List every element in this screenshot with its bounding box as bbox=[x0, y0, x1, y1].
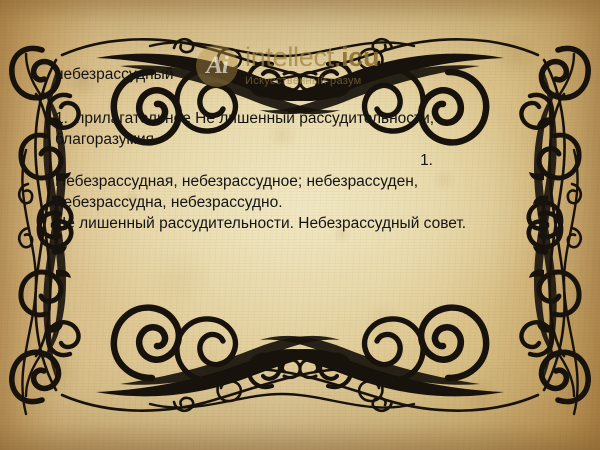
usage-example: Небезрассудный совет. bbox=[298, 215, 466, 232]
sense-number: 1. bbox=[55, 110, 68, 127]
dictionary-entry-page: Ai intellect.icu Искусственный разум неб… bbox=[0, 0, 600, 450]
sense-block: 1.прилагательное Не лишенный рассудитель… bbox=[55, 108, 525, 234]
forms-number: 1. bbox=[55, 150, 525, 171]
headword: небезрассудный bbox=[55, 66, 525, 85]
part-of-speech: прилагательное bbox=[76, 110, 191, 127]
dictionary-article: небезрассудный 1.прилагательное Не лишен… bbox=[55, 66, 525, 234]
inflected-forms: Небезрассудная, небезрассудное; небезрас… bbox=[55, 171, 525, 213]
gloss-text: Не лишенный рассудительности. bbox=[55, 215, 294, 232]
